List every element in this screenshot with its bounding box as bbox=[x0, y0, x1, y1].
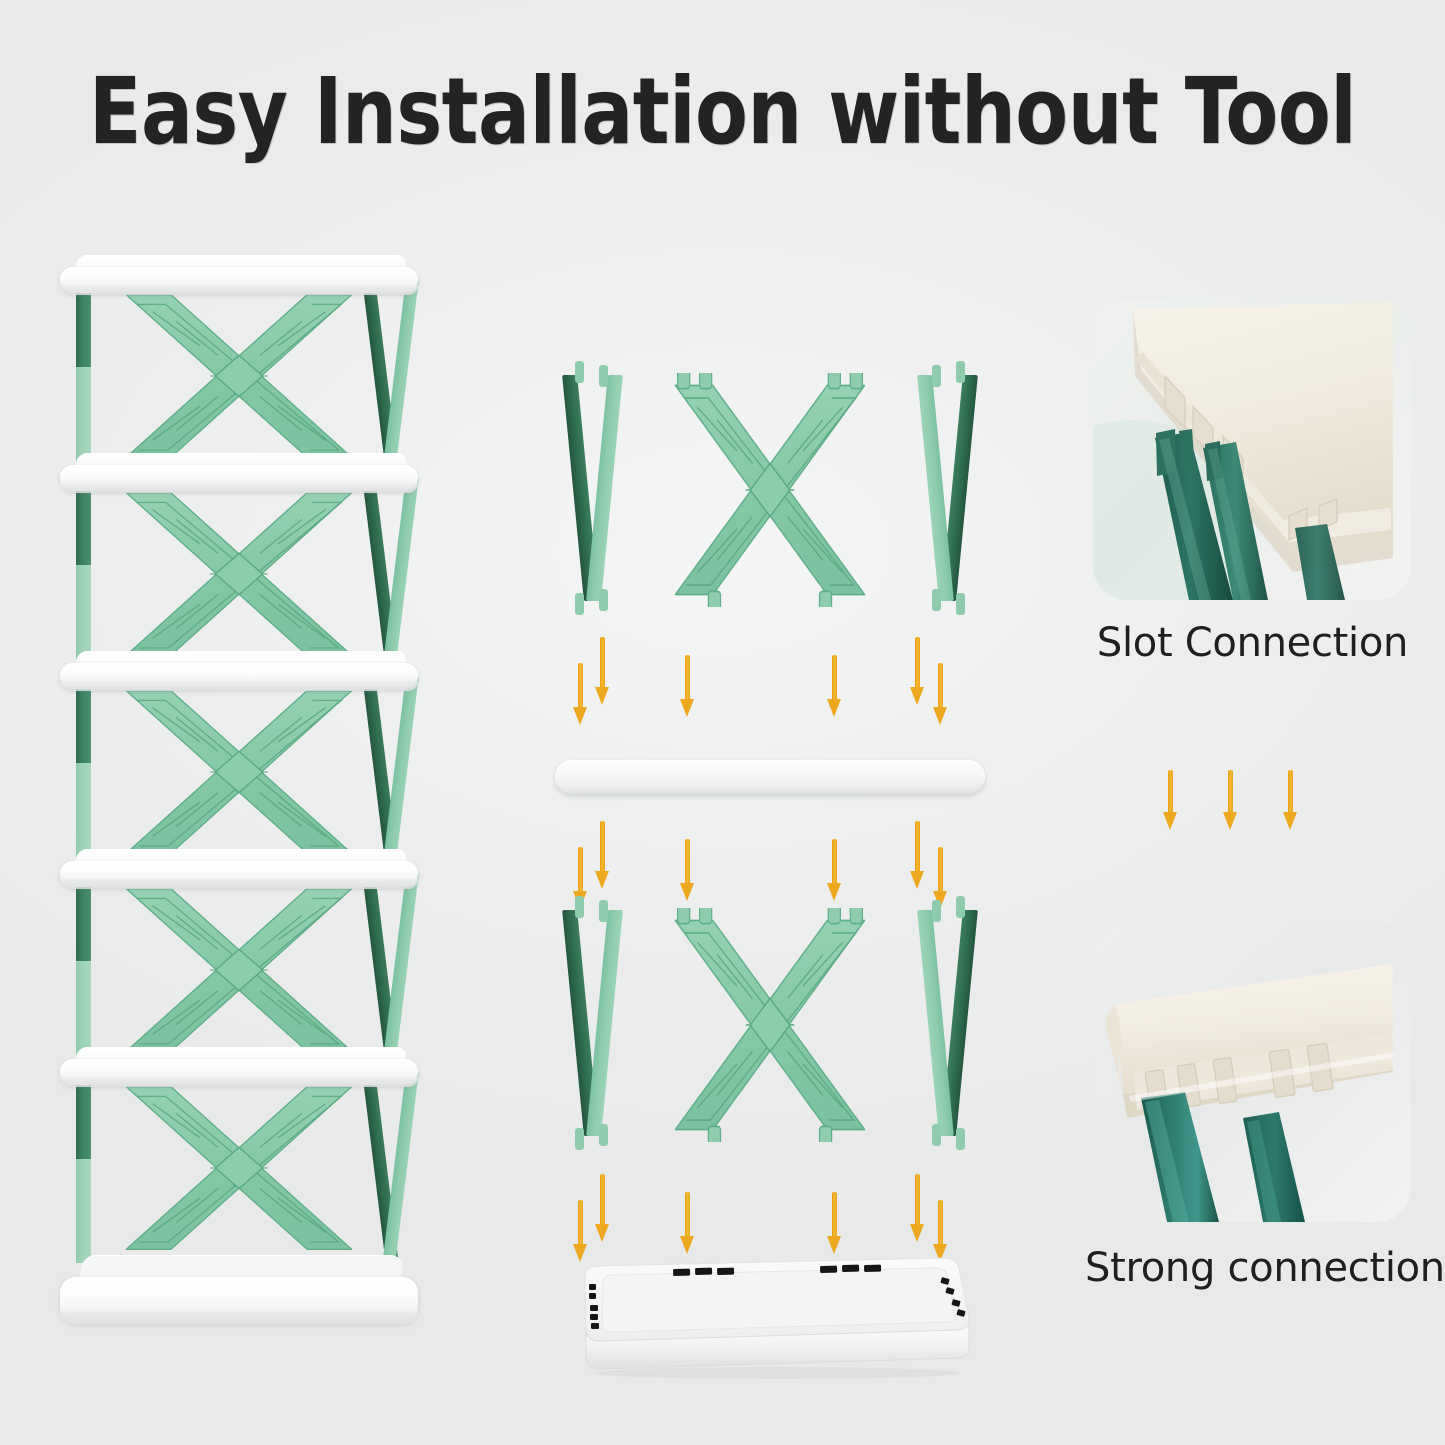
strong-connection-photo bbox=[1093, 922, 1411, 1222]
down-arrow-icon bbox=[595, 1174, 609, 1242]
flat-shelf-panel bbox=[555, 760, 985, 794]
shelf-lip bbox=[60, 483, 418, 493]
arrow-head bbox=[680, 699, 694, 717]
arrow-head bbox=[680, 1236, 694, 1254]
shelf-leg-post-pair bbox=[372, 1073, 418, 1263]
arrow-head bbox=[827, 699, 841, 717]
post-light-segment bbox=[917, 375, 954, 601]
shelf-leg-post bbox=[76, 479, 91, 669]
side-post-pair bbox=[565, 910, 627, 1136]
brace-row bbox=[555, 365, 985, 615]
x-brace-icon bbox=[108, 879, 370, 1061]
arrow-shaft bbox=[832, 839, 837, 884]
post-light-segment bbox=[382, 677, 418, 867]
shelf-lip bbox=[60, 1311, 418, 1325]
side-post-pair bbox=[565, 375, 627, 601]
x-brace-icon bbox=[660, 373, 880, 607]
post-cap bbox=[956, 896, 965, 918]
arrow-shaft bbox=[832, 655, 837, 700]
down-arrow-icon bbox=[933, 663, 947, 725]
arrow-shaft bbox=[915, 637, 920, 688]
shelf-board bbox=[60, 453, 418, 491]
shelf-leg-post bbox=[76, 875, 91, 1065]
arrow-head bbox=[680, 883, 694, 901]
arrow-row bbox=[555, 1170, 985, 1265]
x-brace-icon bbox=[660, 908, 880, 1142]
shelf-leg-post bbox=[76, 281, 91, 471]
down-arrow-icon bbox=[827, 655, 841, 717]
shelf-lip bbox=[60, 879, 418, 889]
slot-connection-photo bbox=[1093, 300, 1411, 600]
slot-connection-caption: Slot Connection bbox=[1085, 620, 1420, 666]
shelf-lip bbox=[60, 681, 418, 691]
shelf-board bbox=[60, 849, 418, 887]
x-brace bbox=[660, 908, 880, 1142]
x-brace-icon bbox=[108, 285, 370, 467]
arrow-shaft bbox=[600, 1174, 605, 1225]
arrow-head bbox=[910, 871, 924, 889]
post-cap bbox=[599, 900, 608, 922]
infographic-canvas: Easy Installation without Tool bbox=[0, 0, 1445, 1445]
arrow-shaft bbox=[938, 1200, 943, 1245]
slot-connection-illustration bbox=[1093, 300, 1411, 600]
shelf-board bbox=[60, 1047, 418, 1085]
shelf-board bbox=[60, 255, 418, 293]
strong-connection-caption: Strong connection bbox=[1085, 1245, 1420, 1291]
arrow-row bbox=[555, 817, 985, 912]
page-title: Easy Installation without Tool bbox=[51, 58, 1395, 165]
x-brace-icon bbox=[108, 483, 370, 665]
down-arrow-icon bbox=[910, 1174, 924, 1242]
post-cap bbox=[932, 900, 941, 922]
down-arrow-icon bbox=[595, 637, 609, 705]
arrow-shaft bbox=[578, 663, 583, 708]
post-light-segment bbox=[382, 281, 418, 471]
arrow-row bbox=[555, 633, 985, 728]
arrow-shaft bbox=[938, 663, 943, 708]
x-brace bbox=[108, 1077, 370, 1259]
post-light-segment bbox=[382, 479, 418, 669]
post-light-segment bbox=[586, 910, 623, 1136]
arrow-shaft bbox=[600, 821, 605, 872]
arrow-shaft bbox=[915, 1174, 920, 1225]
x-brace bbox=[108, 285, 370, 467]
arrow-head bbox=[573, 707, 587, 725]
arrow-shaft bbox=[832, 1192, 837, 1237]
down-arrow-icon bbox=[933, 1200, 947, 1262]
down-arrow-icon bbox=[910, 821, 924, 889]
shelf-leg-post-pair bbox=[372, 479, 418, 669]
down-arrow-icon bbox=[1283, 770, 1297, 830]
assembled-shelf-tower bbox=[60, 255, 460, 1375]
arrow-shaft bbox=[938, 847, 943, 892]
x-brace bbox=[108, 879, 370, 1061]
x-brace bbox=[108, 483, 370, 665]
down-arrow-icon bbox=[827, 1192, 841, 1254]
base-tray-panel bbox=[555, 1255, 985, 1385]
arrow-head bbox=[595, 687, 609, 705]
arrow-shaft bbox=[915, 821, 920, 872]
shelf-leg-post-pair bbox=[372, 677, 418, 867]
arrow-shaft bbox=[578, 847, 583, 892]
down-arrow-icon bbox=[680, 1192, 694, 1254]
arrow-head bbox=[910, 687, 924, 705]
x-brace bbox=[108, 681, 370, 863]
arrow-head bbox=[933, 707, 947, 725]
arrow-head bbox=[910, 1224, 924, 1242]
post-cap bbox=[575, 593, 584, 615]
brace-row bbox=[555, 900, 985, 1150]
post-cap bbox=[956, 1128, 965, 1150]
down-arrow-icon bbox=[680, 839, 694, 901]
shelf-lip bbox=[60, 1077, 418, 1087]
post-cap bbox=[956, 361, 965, 383]
post-light-segment bbox=[586, 375, 623, 601]
post-cap bbox=[575, 361, 584, 383]
exploded-assembly-diagram bbox=[555, 365, 985, 1395]
down-arrow-icon bbox=[1223, 770, 1237, 830]
post-cap bbox=[575, 1128, 584, 1150]
post-cap bbox=[932, 589, 941, 611]
down-arrow-icon bbox=[573, 663, 587, 725]
post-light-segment bbox=[382, 875, 418, 1065]
down-arrow-icon bbox=[827, 839, 841, 901]
post-light-segment bbox=[76, 1159, 91, 1264]
arrow-shaft bbox=[685, 839, 690, 884]
arrow-shaft bbox=[578, 1200, 583, 1245]
shelf-lip bbox=[60, 285, 418, 295]
arrow-shaft bbox=[685, 1192, 690, 1237]
post-cap bbox=[599, 365, 608, 387]
strong-connection-illustration bbox=[1093, 922, 1411, 1222]
x-brace-icon bbox=[108, 1077, 370, 1259]
shelf-leg-post bbox=[76, 1073, 91, 1263]
arrow-head bbox=[595, 871, 609, 889]
x-brace bbox=[660, 373, 880, 607]
photo-callout-column: Slot Connection bbox=[1085, 300, 1420, 1395]
post-cap bbox=[932, 365, 941, 387]
post-cap bbox=[932, 1124, 941, 1146]
arrow-head bbox=[827, 1236, 841, 1254]
down-arrow-icon bbox=[1163, 770, 1177, 830]
arrow-head bbox=[827, 883, 841, 901]
arrow-shaft bbox=[600, 637, 605, 688]
post-cap bbox=[599, 589, 608, 611]
base-tray bbox=[60, 1251, 418, 1325]
post-cap bbox=[575, 896, 584, 918]
post-light-segment bbox=[917, 910, 954, 1136]
shelf-leg-post-pair bbox=[372, 281, 418, 471]
shelf-leg-post-pair bbox=[372, 875, 418, 1065]
side-post-pair bbox=[913, 375, 975, 601]
shelf-board bbox=[60, 651, 418, 689]
arrow-shaft bbox=[685, 655, 690, 700]
post-cap bbox=[956, 593, 965, 615]
down-arrow-icon bbox=[680, 655, 694, 717]
post-cap bbox=[599, 1124, 608, 1146]
shelf-leg-post bbox=[76, 677, 91, 867]
arrow-head bbox=[595, 1224, 609, 1242]
down-arrow-icon bbox=[573, 1200, 587, 1262]
down-arrow-icon bbox=[910, 637, 924, 705]
base-tray-illustration bbox=[555, 1255, 985, 1385]
side-post-pair bbox=[913, 910, 975, 1136]
down-arrow-icon bbox=[595, 821, 609, 889]
post-light-segment bbox=[382, 1073, 418, 1263]
x-brace-icon bbox=[108, 681, 370, 863]
